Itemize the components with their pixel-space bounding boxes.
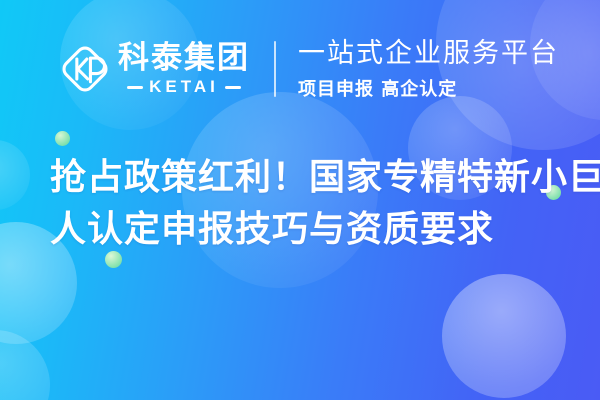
header-divider [274, 41, 276, 97]
brand-name-cn: 科泰集团 [118, 40, 250, 76]
tagline-secondary: 项目申报 高企认定 [298, 75, 559, 101]
brand-name-en: KETAI [149, 77, 219, 97]
tagline-primary: 一站式企业服务平台 [298, 38, 559, 70]
headline-line-1: 抢占政策红利！国家专精特新小巨 [50, 152, 570, 204]
brand-wordmark: 科泰集团 KETAI [118, 42, 250, 98]
wordmark-rule-left [127, 86, 143, 89]
ketai-diamond-monogram-icon [56, 40, 114, 98]
decor-circle-bottom-left [0, 330, 50, 400]
decor-circle-left-top [0, 140, 30, 210]
promo-banner: 科泰集团 KETAI 一站式企业服务平台 项目申报 高企认定 抢占政策红利！国家… [0, 0, 600, 400]
headline-line-2: 人认定申报技巧与资质要求 [50, 204, 570, 256]
tagline-block: 一站式企业服务平台 项目申报 高企认定 [298, 38, 559, 101]
green-accent-dot [55, 131, 70, 146]
banner-headline: 抢占政策红利！国家专精特新小巨 人认定申报技巧与资质要求 [50, 152, 570, 256]
wordmark-rule-right [225, 86, 241, 89]
brand-name-en-row: KETAI [118, 77, 250, 97]
banner-header: 科泰集团 KETAI 一站式企业服务平台 项目申报 高企认定 [56, 38, 559, 101]
brand-logo[interactable]: 科泰集团 KETAI [56, 40, 250, 98]
